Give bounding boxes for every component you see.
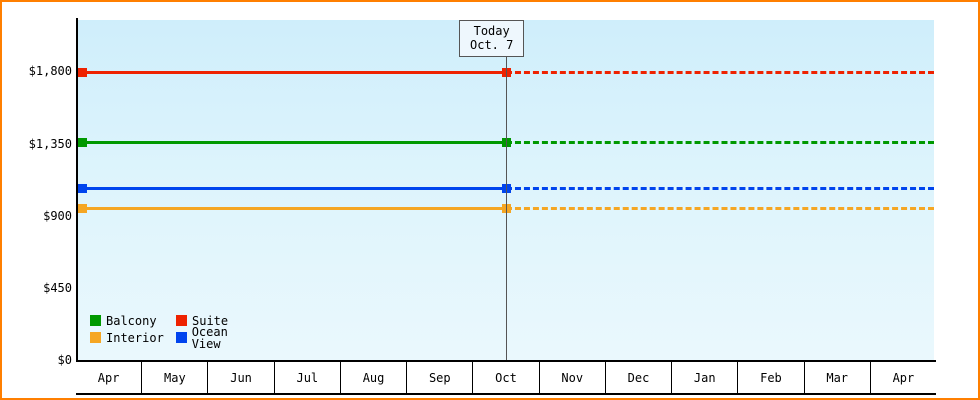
y-tick-900: $900 xyxy=(2,209,72,223)
y-tick-1800: $1,800 xyxy=(2,64,72,78)
series-line-dashed-suite xyxy=(506,71,934,74)
x-tick-jan-9: Jan xyxy=(672,362,738,394)
x-tick-nov-7: Nov xyxy=(540,362,606,394)
series-line-solid-ocean-view xyxy=(78,187,506,190)
y-tick-1350: $1,350 xyxy=(2,137,72,151)
series-line-solid-balcony xyxy=(78,141,506,144)
x-tick-jul-3: Jul xyxy=(275,362,341,394)
y-tick-label: $1,350 xyxy=(29,137,72,151)
legend-row-2: Interior Ocean View xyxy=(90,329,262,346)
series-line-dashed-balcony xyxy=(506,141,934,144)
x-tick-may-1: May xyxy=(142,362,208,394)
series-marker-ocean-view-0 xyxy=(78,184,87,193)
y-tick-0: $0 xyxy=(2,353,72,367)
today-annotation-box: Today Oct. 7 xyxy=(459,20,524,57)
series-line-dashed-ocean-view xyxy=(506,187,934,190)
today-vertical-line xyxy=(506,20,507,360)
x-tick-apr-12: Apr xyxy=(871,362,936,394)
x-tick-apr-0: Apr xyxy=(76,362,142,394)
today-label-line1: Today xyxy=(470,24,513,38)
x-axis-tick-band: AprMayJunJulAugSepOctNovDecJanFebMarApr xyxy=(76,362,936,394)
series-line-dashed-interior xyxy=(506,207,934,210)
x-tick-mar-11: Mar xyxy=(805,362,871,394)
legend-label: Ocean View xyxy=(192,326,262,350)
y-tick-label: $450 xyxy=(43,281,72,295)
series-line-solid-suite xyxy=(78,71,506,74)
x-tick-feb-10: Feb xyxy=(738,362,804,394)
legend: Balcony Suite Interior Ocean View xyxy=(90,312,262,346)
legend-item-interior: Interior xyxy=(90,332,176,344)
legend-swatch-icon xyxy=(90,315,101,326)
series-marker-balcony-0 xyxy=(78,138,87,147)
today-label-line2: Oct. 7 xyxy=(470,38,513,52)
y-tick-450: $450 xyxy=(2,281,72,295)
y-tick-label: $900 xyxy=(43,209,72,223)
legend-swatch-icon xyxy=(90,332,101,343)
legend-swatch-icon xyxy=(176,315,187,326)
y-tick-label: $0 xyxy=(58,353,72,367)
x-tick-dec-8: Dec xyxy=(606,362,672,394)
chart-frame: $1,800 $1,350 $900 $450 $0 Today Oct. 7 … xyxy=(0,0,980,400)
legend-item-balcony: Balcony xyxy=(90,315,176,327)
x-tick-aug-4: Aug xyxy=(341,362,407,394)
x-tick-oct-6: Oct xyxy=(473,362,539,394)
x-tick-sep-5: Sep xyxy=(407,362,473,394)
legend-label: Interior xyxy=(106,332,164,344)
legend-swatch-icon xyxy=(176,332,187,343)
x-tick-jun-2: Jun xyxy=(208,362,274,394)
series-marker-suite-0 xyxy=(78,68,87,77)
legend-item-ocean-view: Ocean View xyxy=(176,326,262,350)
y-tick-label: $1,800 xyxy=(29,64,72,78)
series-marker-interior-0 xyxy=(78,204,87,213)
legend-label: Balcony xyxy=(106,315,157,327)
series-line-solid-interior xyxy=(78,207,506,210)
